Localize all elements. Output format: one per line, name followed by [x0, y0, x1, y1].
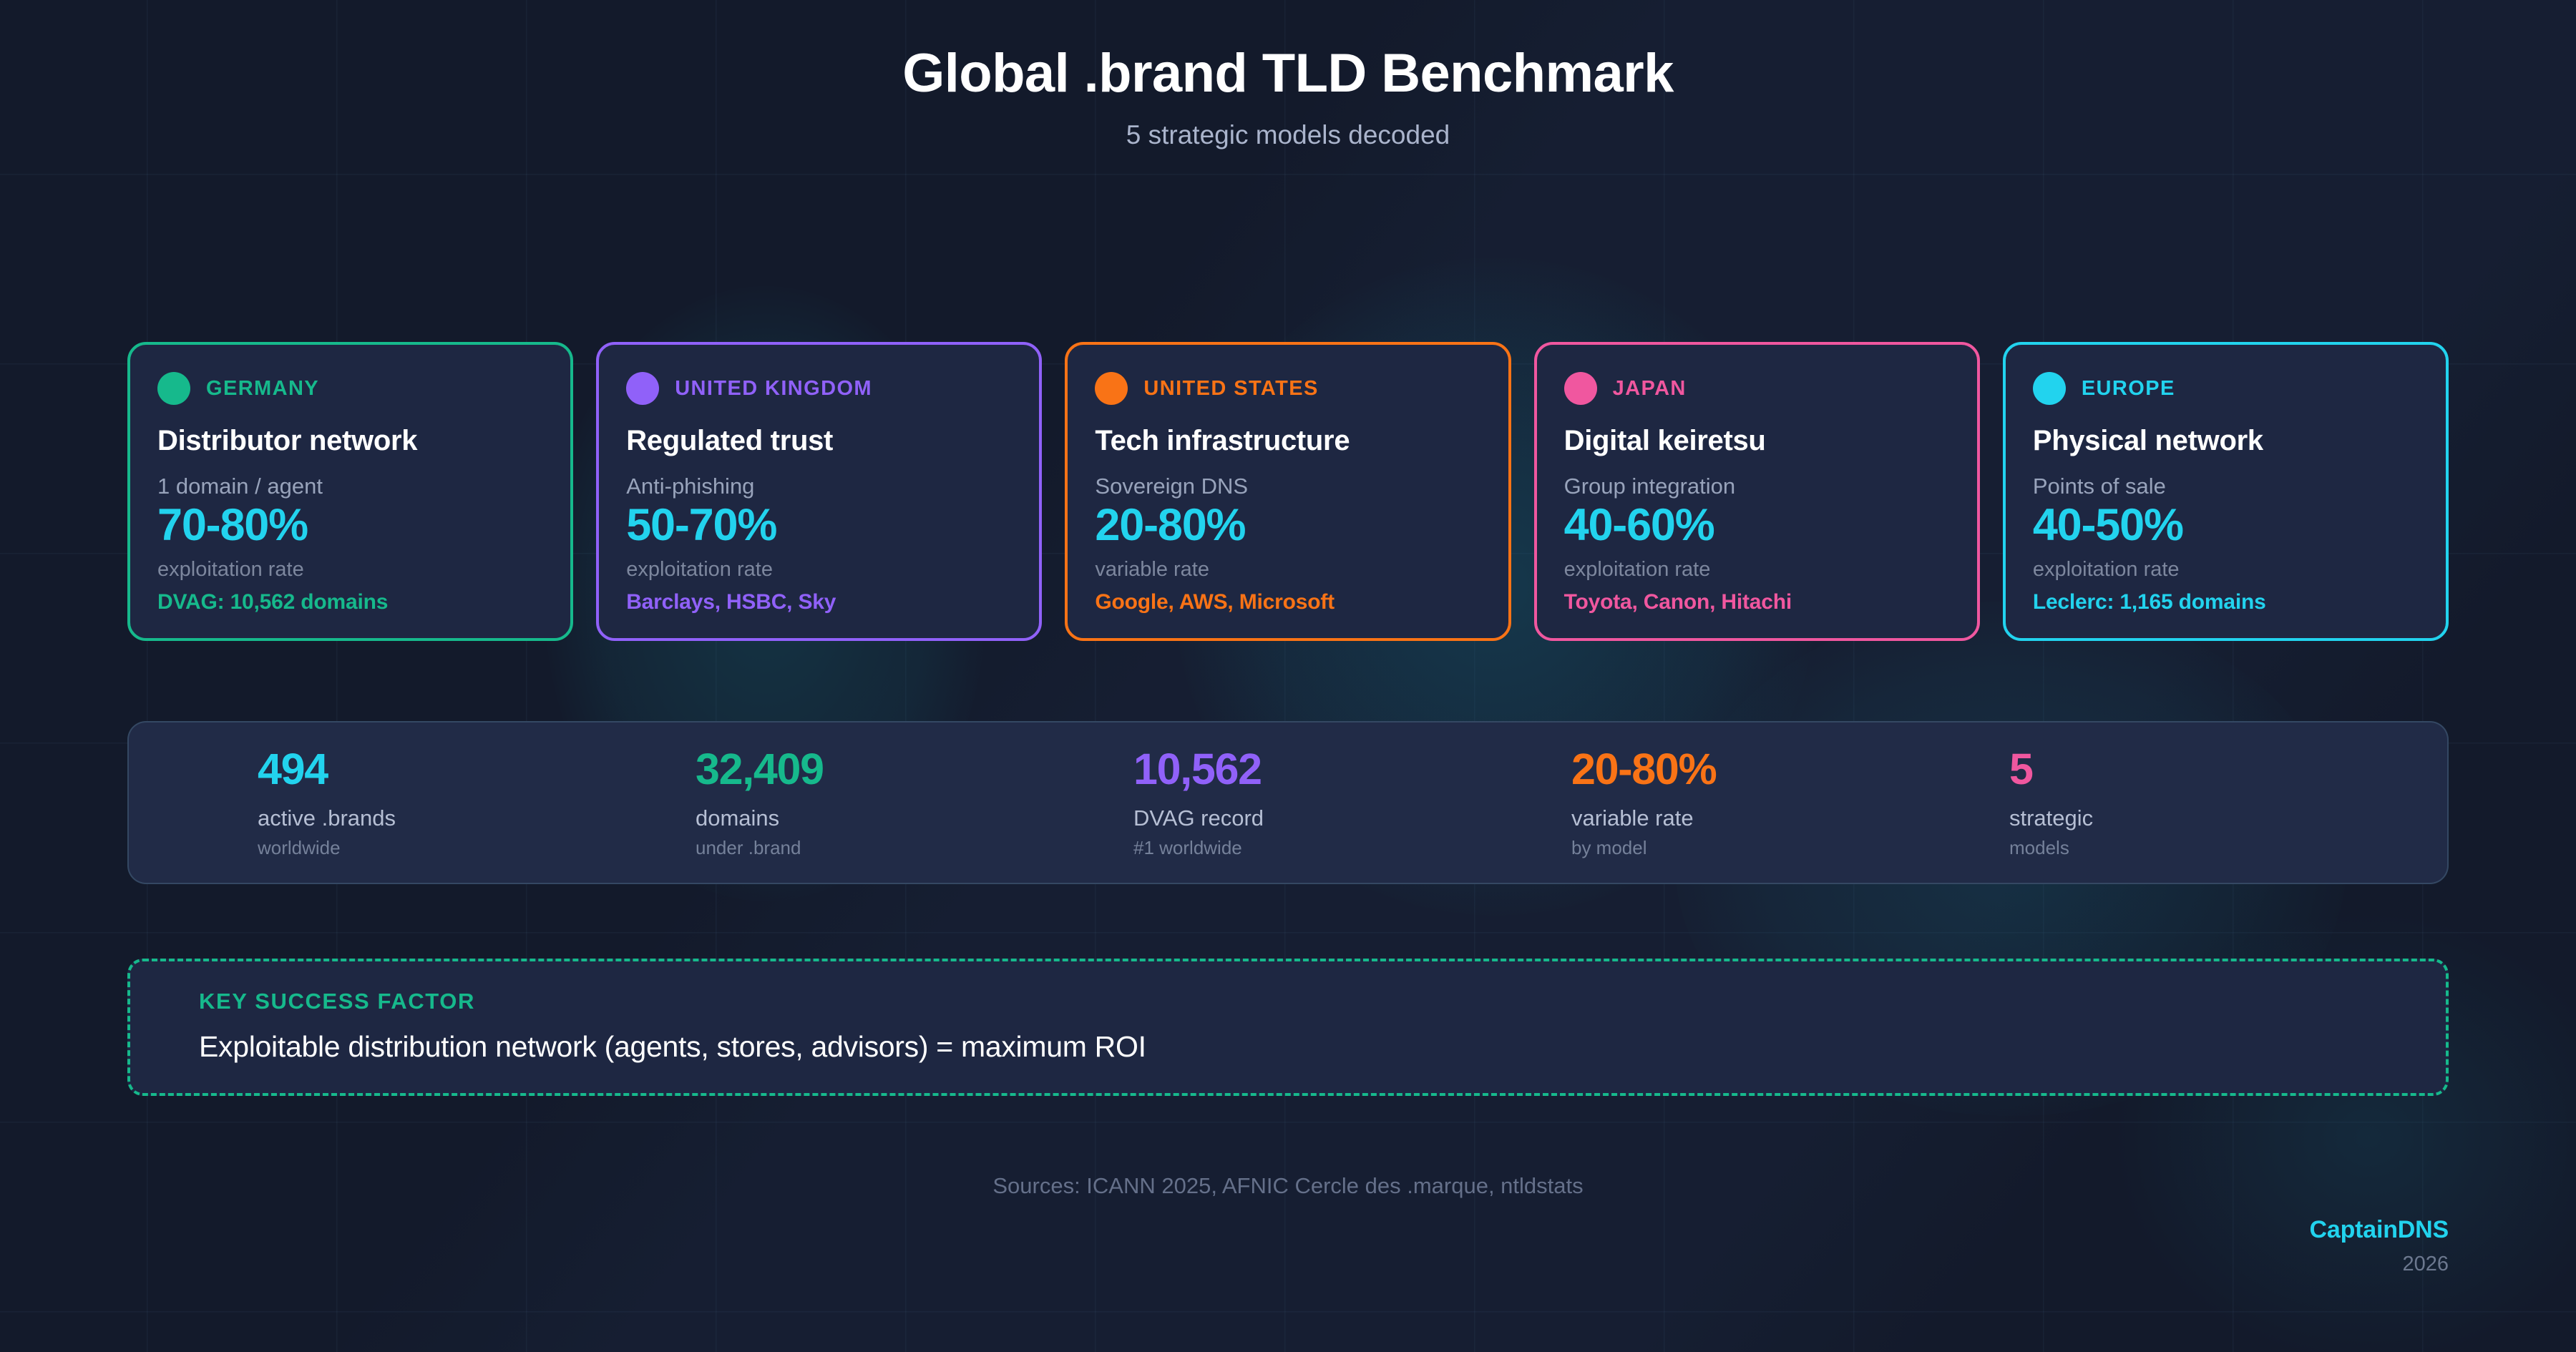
card-title: Digital keiretsu [1564, 425, 1950, 457]
card-country-label: GERMANY [206, 377, 319, 401]
brand-mark: CaptainDNS 2026 [2310, 1216, 2449, 1276]
summary-stat: 494active .brandsworldwide [258, 748, 696, 858]
card-country-label: JAPAN [1613, 377, 1687, 401]
stat-label: variable rate [1571, 807, 2009, 831]
infographic-canvas: Global .brand TLD Benchmark 5 strategic … [0, 0, 2576, 1352]
status-dot-icon [1095, 372, 1128, 405]
stat-value: 20-80% [1571, 748, 2009, 791]
stat-label: domains [696, 807, 1133, 831]
model-card: JAPANDigital keiretsuGroup integration40… [1534, 342, 1980, 641]
stat-note: worldwide [258, 838, 696, 858]
summary-stats-strip: 494active .brandsworldwide32,409domainsu… [127, 721, 2449, 884]
card-percent: 40-50% [2033, 500, 2419, 551]
card-brands: Leclerc: 1,165 domains [2033, 590, 2419, 614]
card-metric-label: Points of sale [2033, 474, 2419, 499]
card-percent: 40-60% [1564, 500, 1950, 551]
card-header: UNITED STATES [1095, 371, 1480, 406]
card-title: Physical network [2033, 425, 2419, 457]
card-percent: 50-70% [626, 500, 1012, 551]
stat-label: strategic [2009, 807, 2447, 831]
key-factor-text: Exploitable distribution network (agents… [199, 1031, 2446, 1063]
summary-stat: 32,409domainsunder .brand [696, 748, 1133, 858]
card-metric-label: Anti-phishing [626, 474, 1012, 499]
card-title: Regulated trust [626, 425, 1012, 457]
model-card: GERMANYDistributor network1 domain / age… [127, 342, 573, 641]
status-dot-icon [2033, 372, 2066, 405]
background-diagonal-sheen [0, 0, 2576, 1352]
brand-year: 2026 [2310, 1253, 2449, 1276]
card-title: Distributor network [157, 425, 543, 457]
summary-stat: 10,562DVAG record#1 worldwide [1133, 748, 1571, 858]
card-metric-label: 1 domain / agent [157, 474, 543, 499]
card-rate-label: exploitation rate [626, 559, 1012, 582]
model-card-row: GERMANYDistributor network1 domain / age… [127, 342, 2449, 641]
card-country-label: UNITED KINGDOM [675, 377, 872, 401]
card-rate-label: variable rate [1095, 559, 1480, 582]
card-brands: Toyota, Canon, Hitachi [1564, 590, 1950, 614]
card-title: Tech infrastructure [1095, 425, 1480, 457]
brand-name: CaptainDNS [2310, 1216, 2449, 1244]
card-rate-label: exploitation rate [2033, 559, 2419, 582]
card-brands: DVAG: 10,562 domains [157, 590, 543, 614]
card-rate-label: exploitation rate [1564, 559, 1950, 582]
card-brands: Google, AWS, Microsoft [1095, 590, 1480, 614]
stat-label: active .brands [258, 807, 696, 831]
status-dot-icon [157, 372, 190, 405]
card-header: EUROPE [2033, 371, 2419, 406]
model-card: UNITED STATESTech infrastructureSovereig… [1065, 342, 1511, 641]
model-card: EUROPEPhysical networkPoints of sale40-5… [2003, 342, 2449, 641]
card-metric-label: Group integration [1564, 474, 1950, 499]
summary-stat: 5strategicmodels [2009, 748, 2447, 858]
stat-value: 5 [2009, 748, 2447, 791]
model-card: UNITED KINGDOMRegulated trustAnti-phishi… [596, 342, 1042, 641]
stat-value: 32,409 [696, 748, 1133, 791]
stat-value: 494 [258, 748, 696, 791]
card-header: JAPAN [1564, 371, 1950, 406]
sources-line: Sources: ICANN 2025, AFNIC Cercle des .m… [0, 1173, 2576, 1199]
page-header: Global .brand TLD Benchmark 5 strategic … [0, 44, 2576, 150]
card-header: UNITED KINGDOM [626, 371, 1012, 406]
status-dot-icon [1564, 372, 1597, 405]
card-brands: Barclays, HSBC, Sky [626, 590, 1012, 614]
card-percent: 70-80% [157, 500, 543, 551]
card-metric-label: Sovereign DNS [1095, 474, 1480, 499]
stat-value: 10,562 [1133, 748, 1571, 791]
key-factor-label: KEY SUCCESS FACTOR [199, 990, 2446, 1012]
summary-stat: 20-80%variable rateby model [1571, 748, 2009, 858]
stat-note: #1 worldwide [1133, 838, 1571, 858]
page-subtitle: 5 strategic models decoded [0, 120, 2576, 150]
stat-note: models [2009, 838, 2447, 858]
stat-note: by model [1571, 838, 2009, 858]
card-country-label: UNITED STATES [1143, 377, 1318, 401]
status-dot-icon [626, 372, 659, 405]
key-success-factor-banner: KEY SUCCESS FACTOR Exploitable distribut… [127, 959, 2449, 1096]
stat-note: under .brand [696, 838, 1133, 858]
page-title: Global .brand TLD Benchmark [0, 44, 2576, 103]
card-percent: 20-80% [1095, 500, 1480, 551]
stat-label: DVAG record [1133, 807, 1571, 831]
card-header: GERMANY [157, 371, 543, 406]
card-rate-label: exploitation rate [157, 559, 543, 582]
card-country-label: EUROPE [2082, 377, 2175, 401]
background-grid [0, 0, 2576, 1352]
